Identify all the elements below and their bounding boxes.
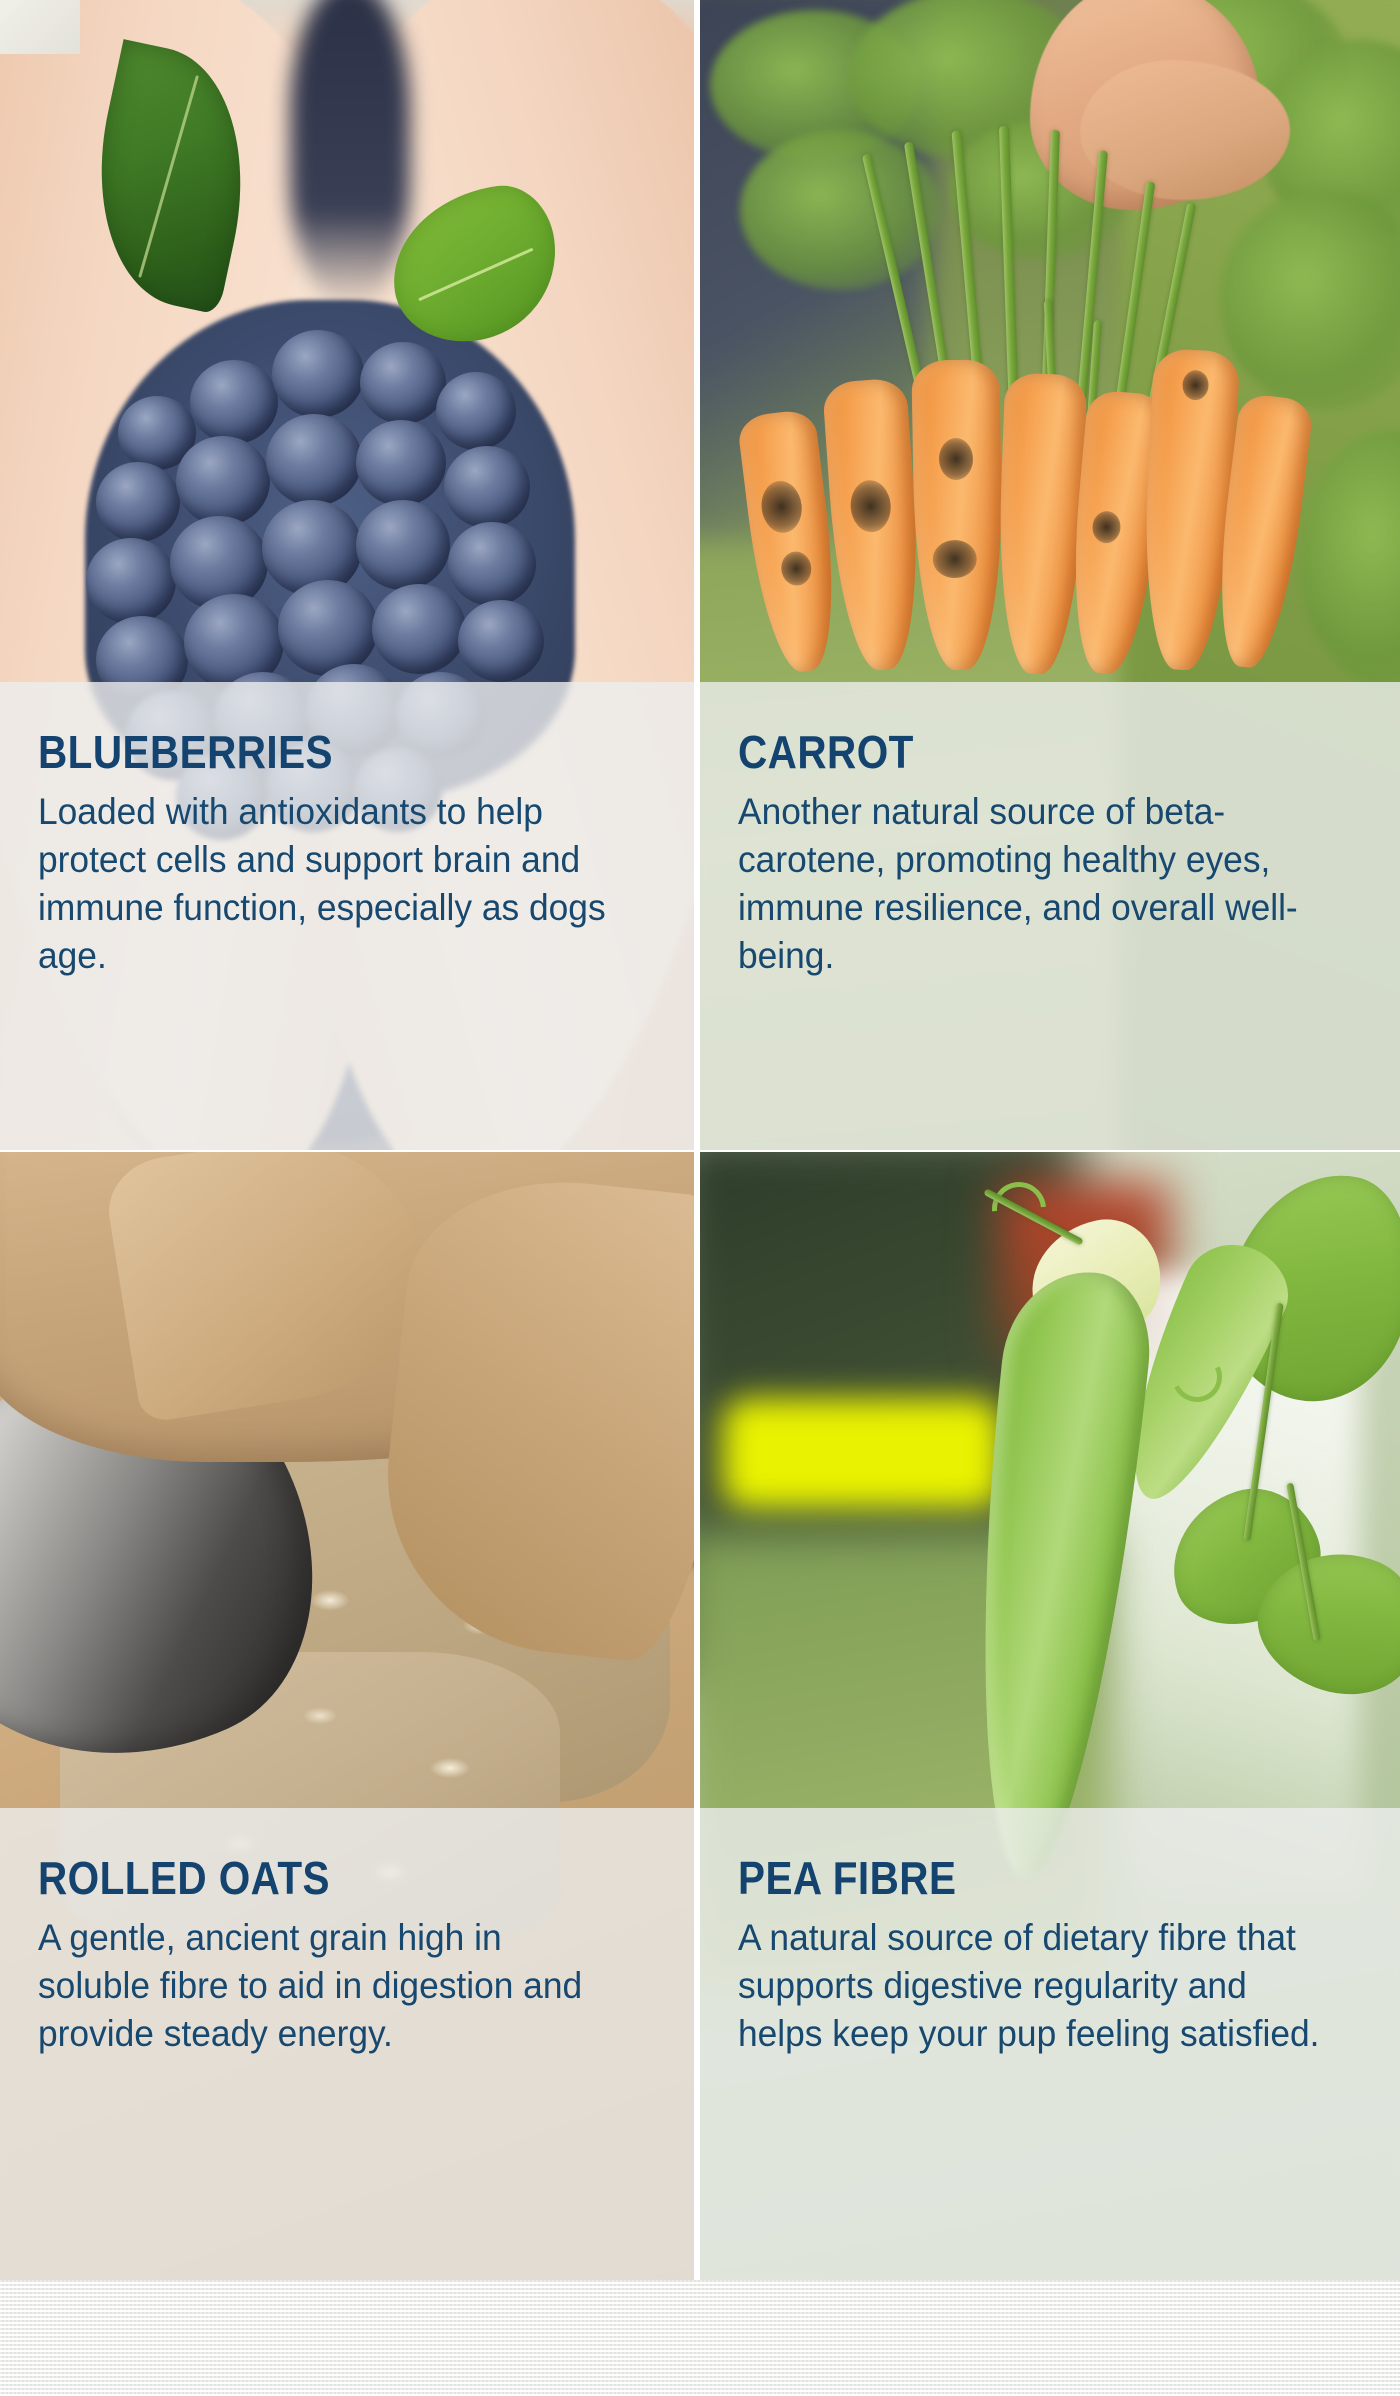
- rolled-oats-caption: ROLLED OATS A gentle, ancient grain high…: [0, 1808, 694, 2280]
- card-title: BLUEBERRIES: [38, 726, 575, 778]
- blueberries-caption: BLUEBERRIES Loaded with antioxidants to …: [0, 682, 694, 1152]
- card-body: Another natural source of beta-carotene,…: [738, 788, 1326, 980]
- card-title: ROLLED OATS: [38, 1852, 575, 1904]
- carrot-caption: CARROT Another natural source of beta-ca…: [700, 682, 1400, 1152]
- yellow-blur-bar: [722, 1398, 1002, 1510]
- card-rolled-oats[interactable]: ROLLED OATS A gentle, ancient grain high…: [0, 1152, 700, 2280]
- card-body: Loaded with antioxidants to help protect…: [38, 788, 621, 980]
- card-carrot[interactable]: CARROT Another natural source of beta-ca…: [700, 0, 1400, 1152]
- ingredients-grid-page: BLUEBERRIES Loaded with antioxidants to …: [0, 0, 1400, 2396]
- card-pea-fibre[interactable]: PEA FIBRE A natural source of dietary fi…: [700, 1152, 1400, 2280]
- pea-fibre-caption: PEA FIBRE A natural source of dietary fi…: [700, 1808, 1400, 2280]
- card-body: A natural source of dietary fibre that s…: [738, 1914, 1326, 2058]
- card-title: PEA FIBRE: [738, 1852, 1280, 1904]
- ingredients-grid: BLUEBERRIES Loaded with antioxidants to …: [0, 0, 1400, 2280]
- card-body: A gentle, ancient grain high in soluble …: [38, 1914, 621, 2058]
- footer-texture: [0, 2280, 1400, 2396]
- card-blueberries[interactable]: BLUEBERRIES Loaded with antioxidants to …: [0, 0, 700, 1152]
- card-title: CARROT: [738, 726, 1280, 778]
